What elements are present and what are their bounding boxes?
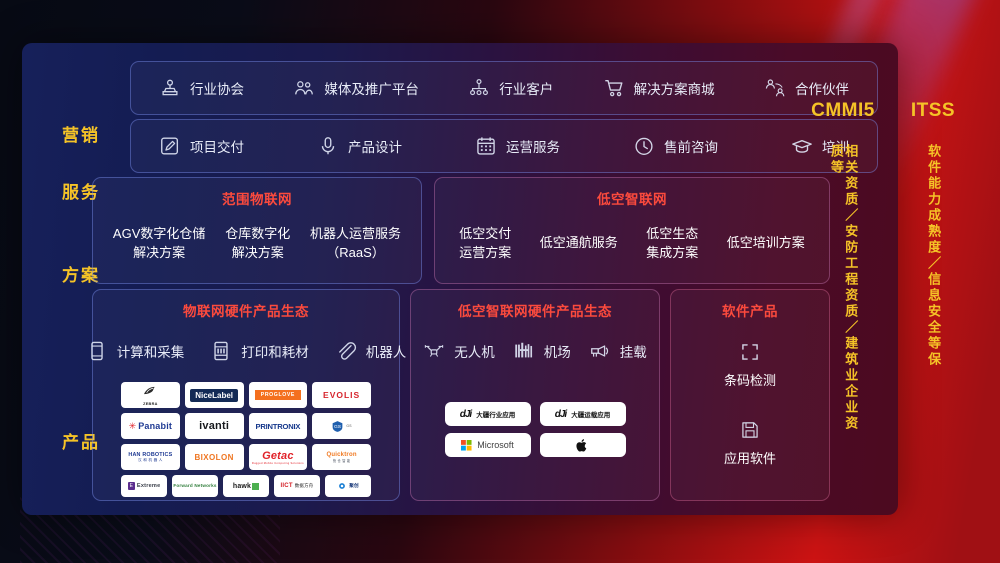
logo-label: Quicktron: [327, 452, 357, 458]
product-category-label: 打印和耗材: [241, 341, 309, 361]
logo-row: E Extreme Forward Networks hawk IICT: [121, 475, 371, 497]
logo-label: PROGLOVE: [255, 390, 301, 400]
payload-icon: [589, 340, 611, 362]
marketing-label: 行业客户: [499, 78, 553, 98]
hawk-mark-icon: [252, 483, 259, 490]
product-category-label: 机器人: [366, 341, 407, 361]
product-group-uav: 低空智联网硬件产品生态 无人机 机场: [410, 289, 660, 501]
shopping-cart-icon: [603, 77, 625, 99]
scan-frame-icon: [740, 342, 760, 362]
logo-label: EVOLIS: [323, 390, 360, 400]
logo-cell-jucreate[interactable]: 聚创: [325, 475, 371, 497]
logo-label: ivanti: [199, 420, 229, 432]
marketing-label: 行业协会: [190, 78, 244, 98]
product-category-label: 机场: [544, 341, 571, 361]
product-category-robot[interactable]: 机器人: [335, 340, 407, 362]
logo-label: IICT: [281, 483, 293, 489]
marketing-row: 行业协会 媒体及推广平台 行业客户: [130, 61, 878, 115]
logo-cell-microsoft[interactable]: Microsoft: [445, 433, 531, 457]
marketing-item-association[interactable]: 行业协会: [159, 77, 244, 99]
marketing-item-customers[interactable]: 行业客户: [468, 77, 553, 99]
logo-label: 大疆运载应用: [571, 409, 610, 419]
logo-label: Getac: [252, 450, 304, 462]
logo-cell-extreme[interactable]: E Extreme: [121, 475, 167, 497]
logo-cell-ivanti[interactable]: ivanti: [185, 413, 244, 439]
ecosystem-panel: 营销 服务 方案 产品 行业协会 媒体及推: [22, 43, 898, 515]
service-item-operations[interactable]: 运营服务: [475, 135, 560, 157]
association-icon: [159, 77, 181, 99]
dock-station-icon: [513, 340, 535, 362]
product-category-label: 计算和采集: [117, 341, 185, 361]
solution-group-uav: 低空智联网 低空交付 运营方案 低空通航服务 低空生态 集成方案 低空培训方案: [434, 177, 830, 284]
logo-cell-gs[interactable]: GS GS: [312, 413, 371, 439]
logo-label: GS: [346, 424, 352, 428]
solution-item[interactable]: 低空通航服务: [540, 234, 618, 253]
product-group-title: 物联网硬件产品生态: [93, 300, 399, 320]
software-item-label: 应用软件: [724, 451, 776, 466]
marketing-item-media[interactable]: 媒体及推广平台: [293, 77, 419, 99]
product-category-dock[interactable]: 机场: [513, 340, 571, 362]
service-row: 项目交付 产品设计 运营服务: [130, 119, 878, 173]
logo-cell-nicelabel[interactable]: NiceLabel: [185, 382, 244, 408]
solution-item[interactable]: 机器人运营服务 （RaaS）: [310, 225, 401, 263]
product-category-drone[interactable]: 无人机: [423, 340, 495, 362]
logo-label: ZEBRA: [142, 402, 158, 406]
clock-icon: [633, 135, 655, 157]
dji-wordmark-icon: dJi: [460, 409, 471, 420]
partners-icon: [764, 77, 786, 99]
gear-logo-icon: [337, 481, 347, 491]
certification-title: ITSS: [911, 100, 955, 122]
logo-cell-dji-delivery[interactable]: dJi 大疆运载应用: [540, 402, 626, 426]
marketing-label: 媒体及推广平台: [324, 78, 419, 98]
service-label: 项目交付: [190, 136, 244, 156]
service-label: 售前咨询: [664, 136, 718, 156]
solution-item[interactable]: AGV数字化仓储 解决方案: [113, 225, 205, 263]
solution-item[interactable]: 仓库数字化 解决方案: [225, 225, 290, 263]
dji-wordmark-icon: dJi: [555, 409, 566, 420]
media-group-icon: [293, 77, 315, 99]
gs-shield-icon: GS: [331, 420, 344, 433]
logo-cell-dji-industry[interactable]: dJi 大疆行业应用: [445, 402, 531, 426]
solution-item[interactable]: 低空培训方案: [727, 234, 805, 253]
logo-cell-getac[interactable]: Getac Rugged Mobile Computing Solutions: [249, 444, 308, 470]
drone-icon: [423, 340, 445, 362]
logo-label: Microsoft: [477, 440, 514, 450]
logo-label: 聚创: [349, 483, 359, 489]
solution-item[interactable]: 低空交付 运营方案: [459, 225, 511, 263]
logo-label: NiceLabel: [190, 389, 238, 402]
product-category-label: 挂载: [620, 341, 647, 361]
logo-row: ✳ Panabit ivanti PRINTRONIX GS GS: [121, 413, 371, 439]
logo-cell-bixolon[interactable]: BIXOLON: [185, 444, 244, 470]
logo-row: dJi 大疆行业应用 dJi 大疆运载应用: [445, 402, 626, 426]
extreme-mark-icon: E: [128, 482, 135, 490]
logo-label: Forward Networks: [173, 483, 216, 489]
pencil-square-icon: [159, 135, 181, 157]
solution-item[interactable]: 低空生态 集成方案: [646, 225, 698, 263]
svg-text:GS: GS: [334, 424, 342, 430]
service-label: 产品设计: [348, 136, 402, 156]
microphone-icon: [317, 135, 339, 157]
rail-label-marketing: 营销: [62, 121, 122, 146]
service-item-design[interactable]: 产品设计: [317, 135, 402, 157]
zebra-head-icon: [142, 386, 158, 397]
microsoft-logo-icon: [461, 440, 472, 451]
logo-cell-proglove[interactable]: PROGLOVE: [249, 382, 308, 408]
service-label: 运营服务: [506, 136, 560, 156]
logo-cell-quicktron[interactable]: Quicktron 快 仓 智 能: [312, 444, 371, 470]
logo-label: Extreme: [137, 483, 160, 489]
logo-cell-panabit[interactable]: ✳ Panabit: [121, 413, 180, 439]
service-item-presales[interactable]: 售前咨询: [633, 135, 718, 157]
panabit-mark-icon: ✳: [129, 421, 137, 432]
floppy-disk-icon: [740, 420, 760, 440]
printer-icon: [210, 340, 232, 362]
logo-row: HAN ROBOTICS 汉 和 机 器 人 BIXOLON Getac Rug…: [121, 444, 371, 470]
solution-group-title: 范围物联网: [93, 188, 421, 208]
product-category-printing[interactable]: 打印和耗材: [210, 340, 309, 362]
certification-title: CMMI5: [811, 100, 875, 122]
certification-column-itss: ITSS 软件能力成熟度／信息安全等保: [890, 43, 976, 515]
certification-detail-text: 相关资质／安防工程资质／建筑业企业资质等: [829, 144, 858, 444]
marketing-label: 解决方案商城: [634, 78, 715, 98]
service-item-delivery[interactable]: 项目交付: [159, 135, 244, 157]
logo-row: ZEBRA NiceLabel PROGLOVE EVOLIS: [121, 382, 371, 408]
product-category-payload[interactable]: 挂载: [589, 340, 647, 362]
logo-cell-apple[interactable]: Apple: [540, 433, 626, 457]
marketing-item-mall[interactable]: 解决方案商城: [603, 77, 715, 99]
uav-logo-grid: dJi 大疆行业应用 dJi 大疆运载应用 Microsoft: [451, 402, 619, 457]
software-item-label: 条码检测: [724, 373, 776, 388]
logo-label: HAN ROBOTICS: [128, 452, 172, 458]
logo-cell-evolis[interactable]: EVOLIS: [312, 382, 371, 408]
solution-group-title: 低空智联网: [435, 188, 829, 208]
iot-logo-grid: ZEBRA NiceLabel PROGLOVE EVOLIS ✳ Panabi…: [121, 382, 371, 497]
solution-group-iot: 范围物联网 AGV数字化仓储 解决方案 仓库数字化 解决方案 机器人运营服务 （…: [92, 177, 422, 284]
certification-detail-text: 软件能力成熟度／信息安全等保: [926, 144, 940, 444]
logo-cell-hanrobotics[interactable]: HAN ROBOTICS 汉 和 机 器 人: [121, 444, 180, 470]
tablet-icon: [86, 340, 108, 362]
certification-column-cmmi5: CMMI5 相关资质／安防工程资质／建筑业企业资质等: [800, 43, 886, 515]
logo-cell-printronix[interactable]: PRINTRONIX: [249, 413, 308, 439]
product-category-compute[interactable]: 计算和采集: [86, 340, 185, 362]
logo-label: Panabit: [138, 421, 172, 431]
customers-network-icon: [468, 77, 490, 99]
logo-label: 大疆行业应用: [476, 409, 515, 419]
logo-row: Microsoft Apple: [445, 433, 626, 457]
logo-cell-hawk[interactable]: hawk: [223, 475, 269, 497]
product-group-title: 低空智联网硬件产品生态: [411, 300, 659, 320]
logo-cell-forward-networks[interactable]: Forward Networks: [172, 475, 218, 497]
product-group-iot: 物联网硬件产品生态 计算和采集 打印和耗材: [92, 289, 400, 501]
logo-cell-zebra[interactable]: ZEBRA: [121, 382, 180, 408]
apple-logo-icon: [576, 438, 589, 453]
logo-label: BIXOLON: [195, 453, 234, 462]
logo-label: hawk: [233, 483, 251, 490]
logo-label: PRINTRONIX: [255, 422, 300, 431]
calendar-icon: [475, 135, 497, 157]
logo-cell-iict[interactable]: IICT 数据方舟: [274, 475, 320, 497]
paperclip-robot-icon: [335, 340, 357, 362]
product-category-label: 无人机: [454, 341, 495, 361]
